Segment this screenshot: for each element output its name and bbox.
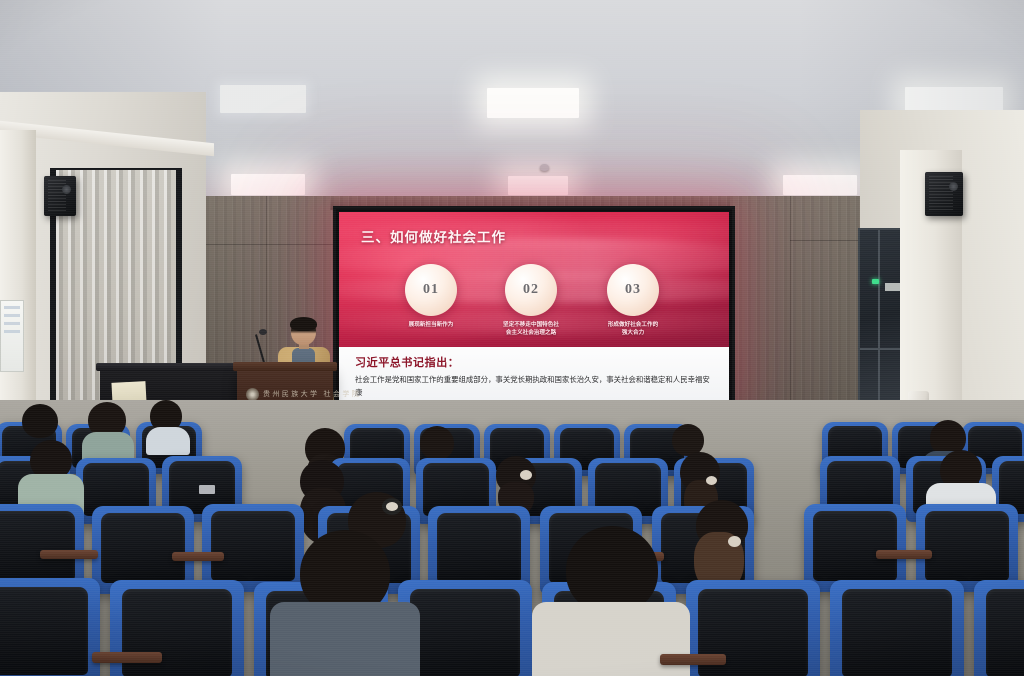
slide-title: 三、如何做好社会工作: [361, 226, 506, 246]
notice-board: [0, 300, 24, 372]
door-sign: [885, 283, 901, 291]
seat[interactable]: [0, 578, 100, 676]
hair-tie: [728, 536, 741, 547]
wood-seam-1: [196, 244, 342, 245]
seat-armrest: [172, 552, 224, 561]
step-circle-1: 01: [405, 264, 457, 316]
left-wall-speaker-icon: [44, 176, 76, 216]
seat-armrest: [92, 652, 162, 663]
lectern-top: [233, 362, 337, 371]
audience-area: [0, 400, 1024, 676]
head: [22, 404, 58, 438]
right-wall-speaker-icon: [925, 172, 963, 216]
head: [420, 426, 454, 460]
step-number-2: 02: [523, 282, 539, 298]
seat-armrest: [876, 550, 932, 559]
slide-section-number: 三、: [361, 230, 390, 245]
seat-pad: [101, 513, 185, 583]
speaker-grill: [929, 176, 953, 212]
seat-pad: [813, 511, 897, 581]
projection-screen: 三、如何做好社会工作 01 展现新担当新作为 02 坚定不移走中国特色社 会主义…: [333, 206, 735, 406]
hair-tie: [706, 476, 717, 485]
seat-pad: [0, 587, 88, 675]
seat-pad: [925, 511, 1009, 581]
seat[interactable]: [202, 504, 304, 592]
presenter-hair: [290, 317, 317, 331]
exit-light-icon: [872, 279, 879, 284]
seat-armrest: [660, 654, 726, 665]
quote-heading: 习近平总书记指出：: [355, 354, 713, 370]
slide-surface: 三、如何做好社会工作 01 展现新担当新作为 02 坚定不移走中国特色社 会主义…: [339, 212, 729, 400]
seat-pad: [410, 589, 520, 676]
step-label-2: 坚定不移走中国特色社 会主义社会治理之路: [475, 321, 587, 338]
piano-lid: [96, 363, 244, 371]
slide-upper-red-area: 三、如何做好社会工作 01 展现新担当新作为 02 坚定不移走中国特色社 会主义…: [339, 212, 729, 347]
step-label-3: 形成做好社会工作的 强大合力: [577, 321, 689, 338]
seat-pad: [211, 511, 295, 581]
seat[interactable]: [804, 504, 906, 592]
shoulders: [270, 602, 420, 676]
slide-step-3: 03 形成做好社会工作的 强大合力: [577, 264, 689, 338]
speaker-cone: [62, 185, 71, 194]
slide-quote-panel: 习近平总书记指出： 社会工作是党和国家工作的重要组成部分，事关党长期执政和国家长…: [339, 347, 729, 400]
speaker-cone: [949, 182, 958, 191]
quote-body: 社会工作是党和国家工作的重要组成部分，事关党长期执政和国家长治久安，事关社会和谐…: [355, 374, 713, 399]
head: [566, 526, 658, 614]
seat-pad: [437, 513, 521, 583]
lecture-hall-photo: 三、如何做好社会工作 01 展现新担当新作为 02 坚定不移走中国特色社 会主义…: [0, 0, 1024, 676]
door-mullion-vertical: [878, 230, 880, 420]
hair-clip-detail: [386, 502, 398, 511]
slide-step-1: 01 展现新担当新作为: [375, 264, 487, 329]
step-circle-3: 03: [607, 264, 659, 316]
shoulders: [146, 427, 190, 455]
microphone-head-icon: [259, 329, 267, 335]
seat-armrest: [40, 550, 98, 559]
slide-step-circles: 01 展现新担当新作为 02 坚定不移走中国特色社 会主义社会治理之路 03: [339, 264, 729, 338]
seat[interactable]: [830, 580, 964, 676]
step-label-1: 展现新担当新作为: [375, 321, 487, 329]
seat[interactable]: [916, 504, 1018, 592]
lectern-institution-text: 贵州民族大学 社会学院: [263, 389, 361, 399]
seat[interactable]: [974, 580, 1024, 676]
hair-tie: [520, 470, 532, 480]
seat-pad: [986, 589, 1024, 676]
seat-pad: [842, 589, 952, 676]
step-circle-2: 02: [505, 264, 557, 316]
step-number-1: 01: [423, 282, 439, 298]
slide-title-text: 如何做好社会工作: [390, 230, 506, 245]
slide-step-2: 02 坚定不移走中国特色社 会主义社会治理之路: [475, 264, 587, 338]
seat-number-tag: [199, 485, 215, 494]
step-number-3: 03: [625, 282, 641, 298]
seat-pad: [0, 511, 75, 581]
